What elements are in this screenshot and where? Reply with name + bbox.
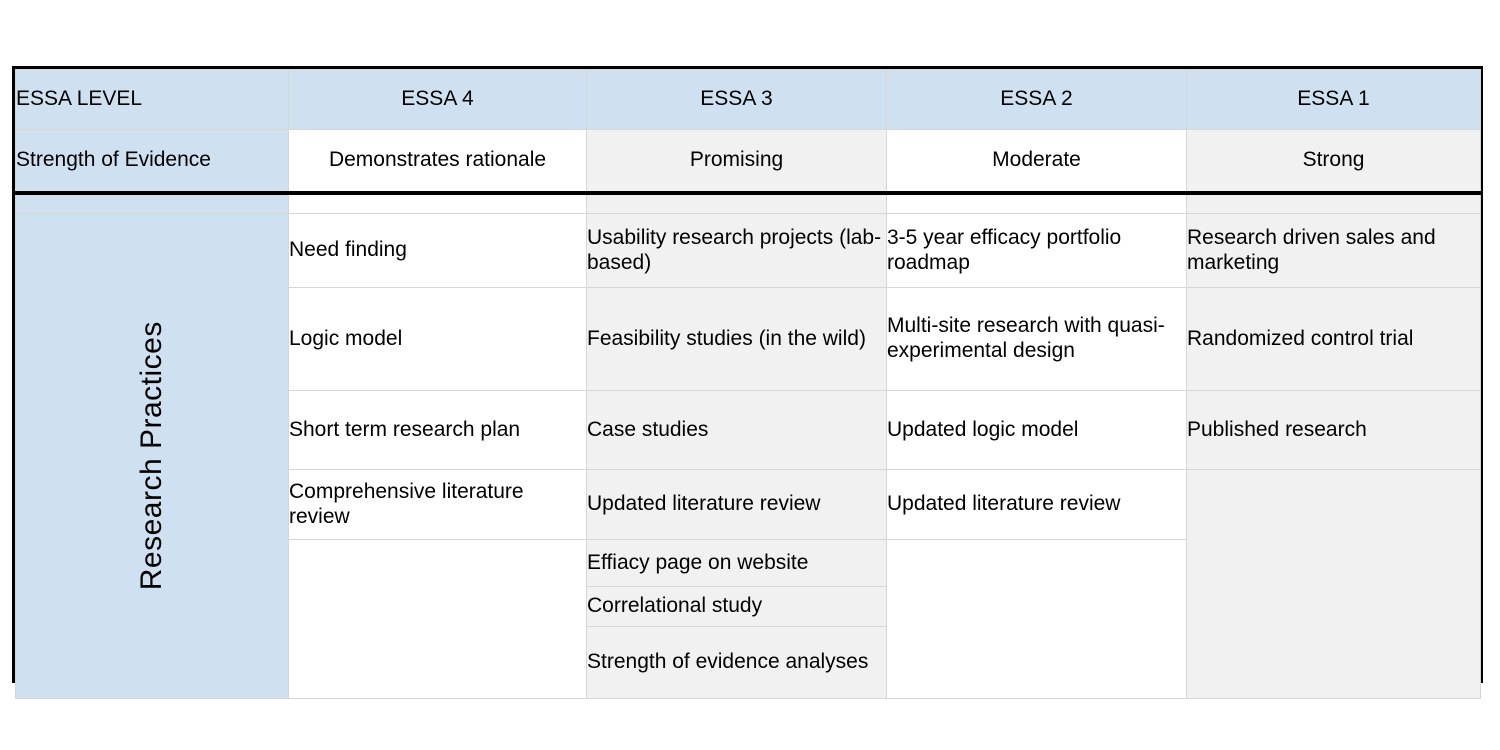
spacer-essa-3 bbox=[587, 193, 887, 214]
cell-essa1-1: Research driven sales and marketing bbox=[1187, 214, 1481, 288]
spacer-group-cell bbox=[16, 193, 289, 214]
spacer-essa-2 bbox=[887, 193, 1187, 214]
spacer-essa-4 bbox=[289, 193, 587, 214]
spacer-row bbox=[16, 193, 1481, 214]
header-essa-4: ESSA 4 bbox=[289, 70, 587, 130]
table-row: Research Practices Need finding Usabilit… bbox=[16, 214, 1481, 288]
cell-essa3-7: Strength of evidence analyses bbox=[587, 627, 887, 699]
cell-essa3-1: Usability research projects (lab-based) bbox=[587, 214, 887, 288]
subheader-strength-of-evidence: Strength of Evidence bbox=[16, 130, 289, 194]
cell-essa3-5: Effiacy page on website bbox=[587, 540, 887, 587]
subheader-essa-3: Promising bbox=[587, 130, 887, 194]
cell-essa1-4 bbox=[1187, 470, 1481, 699]
header-essa-level: ESSA LEVEL bbox=[16, 70, 289, 130]
cell-essa4-4: Comprehensive literature review bbox=[289, 470, 587, 540]
cell-essa1-2: Randomized control trial bbox=[1187, 288, 1481, 391]
cell-essa4-2: Logic model bbox=[289, 288, 587, 391]
header-essa-3: ESSA 3 bbox=[587, 70, 887, 130]
header-essa-1: ESSA 1 bbox=[1187, 70, 1481, 130]
header-essa-2: ESSA 2 bbox=[887, 70, 1187, 130]
spacer-essa-1 bbox=[1187, 193, 1481, 214]
subheader-essa-2: Moderate bbox=[887, 130, 1187, 194]
cell-essa3-4: Updated literature review bbox=[587, 470, 887, 540]
cell-essa3-6: Correlational study bbox=[587, 587, 887, 627]
cell-essa3-3: Case studies bbox=[587, 391, 887, 470]
table-header-row: ESSA LEVEL ESSA 4 ESSA 3 ESSA 2 ESSA 1 bbox=[16, 70, 1481, 130]
table-subheader-row: Strength of Evidence Demonstrates ration… bbox=[16, 130, 1481, 194]
cell-essa1-3: Published research bbox=[1187, 391, 1481, 470]
cell-essa4-3: Short term research plan bbox=[289, 391, 587, 470]
essa-evidence-table: ESSA LEVEL ESSA 4 ESSA 3 ESSA 2 ESSA 1 S… bbox=[12, 66, 1483, 683]
cell-essa4-5 bbox=[289, 540, 587, 699]
rotated-label-wrap: Research Practices bbox=[16, 214, 288, 698]
cell-essa2-4: Updated literature review bbox=[887, 470, 1187, 540]
cell-essa2-1: 3-5 year efficacy portfolio roadmap bbox=[887, 214, 1187, 288]
cell-essa2-5 bbox=[887, 540, 1187, 699]
subheader-essa-1: Strong bbox=[1187, 130, 1481, 194]
cell-essa4-1: Need finding bbox=[289, 214, 587, 288]
cell-essa2-2: Multi-site research with quasi-experimen… bbox=[887, 288, 1187, 391]
cell-essa2-3: Updated logic model bbox=[887, 391, 1187, 470]
essa-table: ESSA LEVEL ESSA 4 ESSA 3 ESSA 2 ESSA 1 S… bbox=[15, 69, 1481, 699]
cell-essa3-2: Feasibility studies (in the wild) bbox=[587, 288, 887, 391]
subheader-essa-4: Demonstrates rationale bbox=[289, 130, 587, 194]
row-group-label: Research Practices bbox=[134, 321, 169, 590]
row-group-research-practices: Research Practices bbox=[16, 214, 289, 699]
